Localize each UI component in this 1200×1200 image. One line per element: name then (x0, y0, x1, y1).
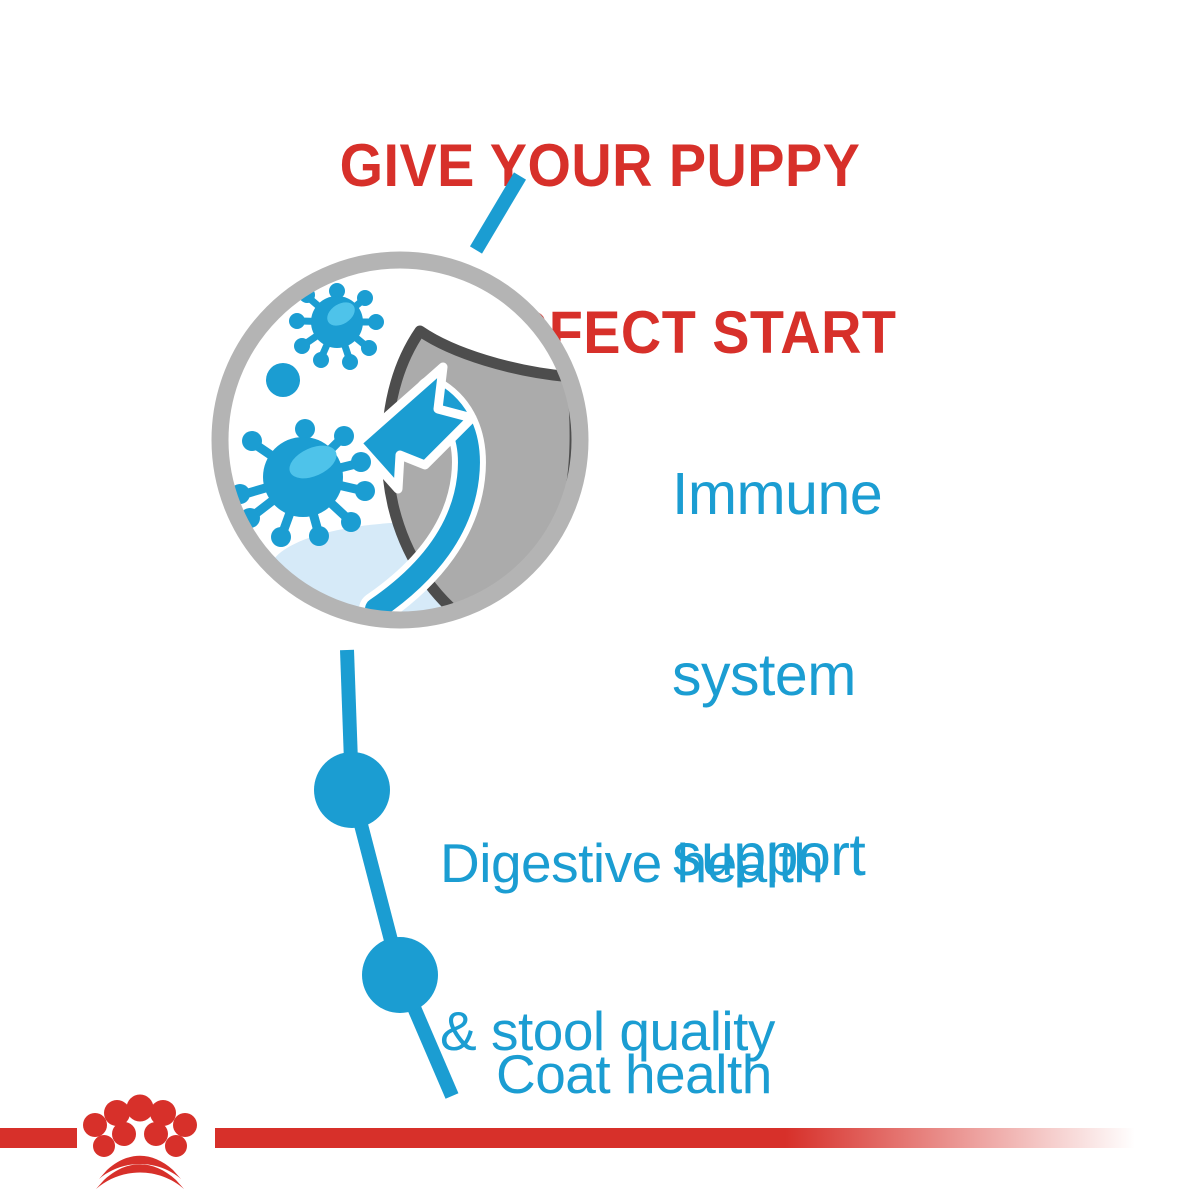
benefit-label-digestive-line-1: Digestive health (440, 835, 823, 891)
node-dot-icon-coat (362, 937, 438, 1013)
brand-footer (0, 1085, 1200, 1200)
poster-canvas: GIVE YOUR PUPPY THE PERFECT START (0, 0, 1200, 1200)
shield-immunity-icon (220, 260, 580, 625)
connector-line-top (476, 176, 520, 250)
node-dot-icon-digestive (314, 752, 390, 828)
virus-icon-dot (266, 363, 300, 397)
footer-rule-left (0, 1128, 77, 1148)
footer-rule-right (215, 1128, 1135, 1148)
benefit-label-immune-line-1: Immune (672, 464, 882, 524)
benefit-label-immune-line-2: system (672, 645, 882, 705)
royal-canin-crown-icon (83, 1095, 197, 1190)
